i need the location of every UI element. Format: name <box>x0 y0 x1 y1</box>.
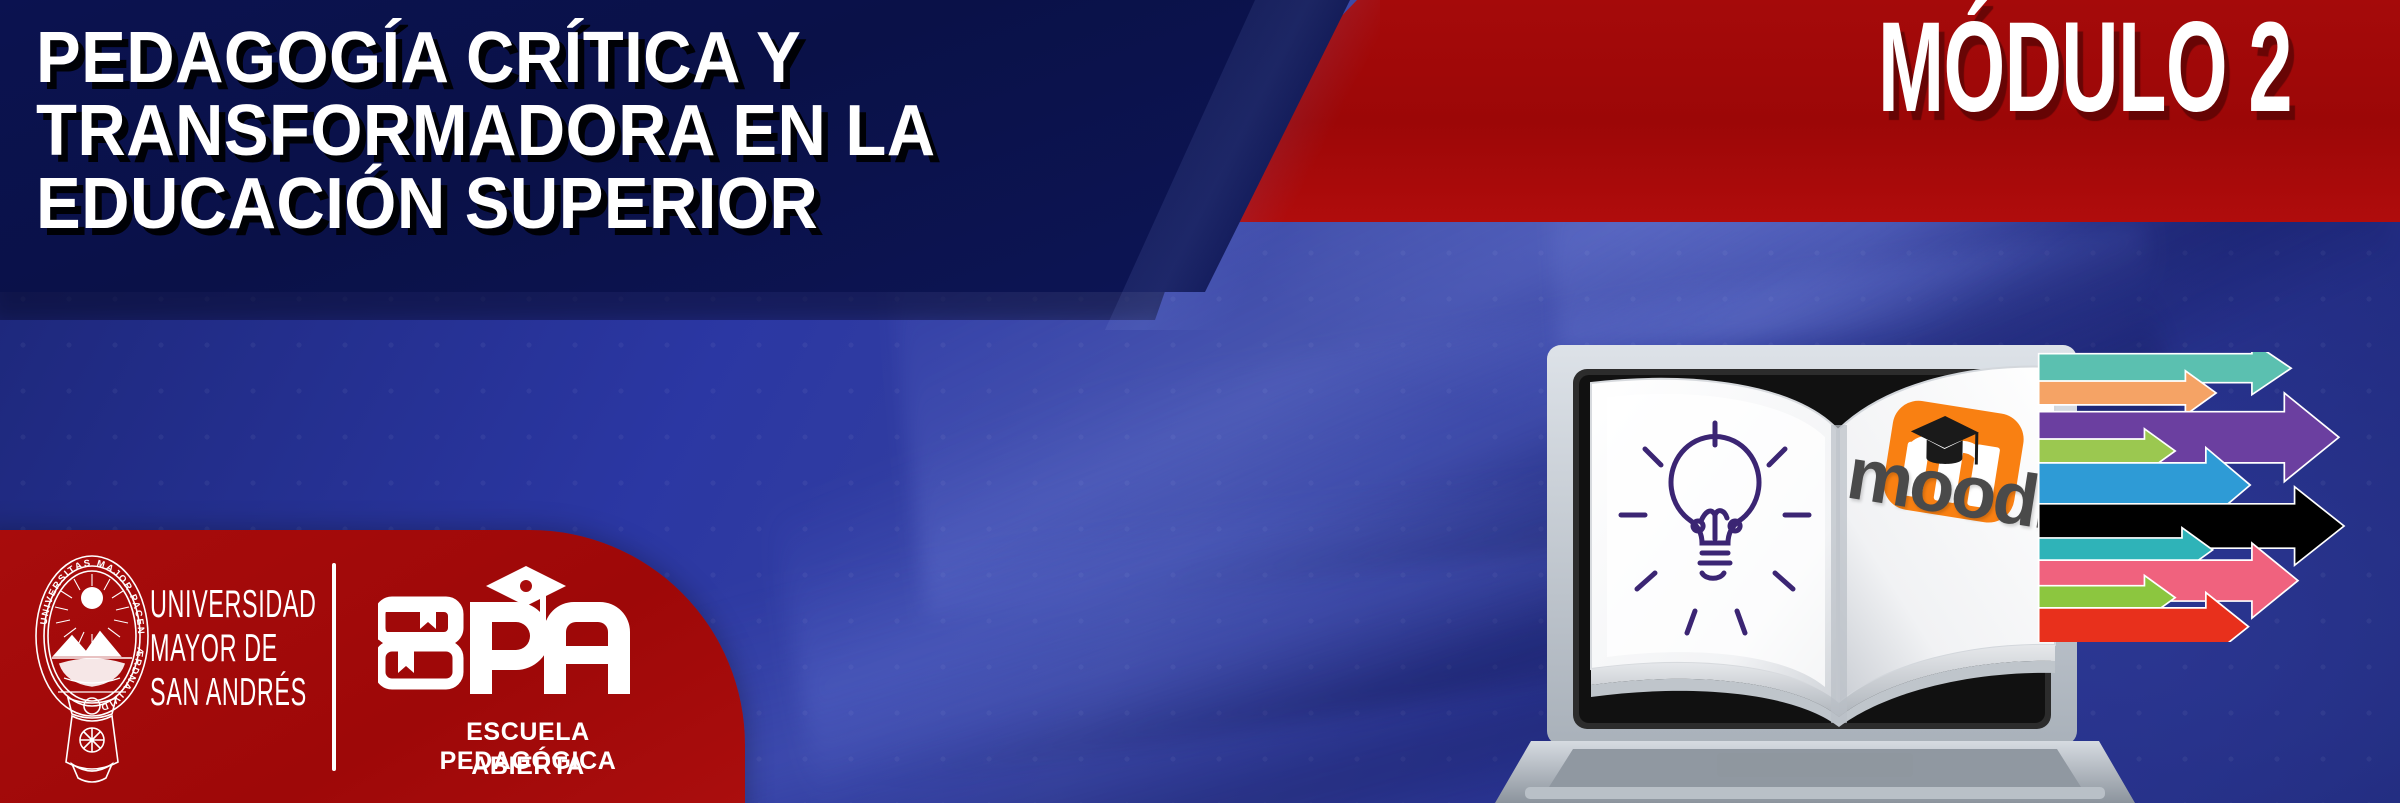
module-label: MÓDULO 2 <box>1878 4 2292 132</box>
epa-logo-icon <box>378 560 678 720</box>
logo-divider <box>332 563 336 771</box>
progress-arrows-graphic <box>2010 352 2400 642</box>
umsa-seal-icon: UNIVERSITAS MAJOR PACENSIS ÆRDNA IVID <box>28 552 156 784</box>
course-banner: PEDAGOGÍA CRÍTICA Y TRANSFORMADORA EN LA… <box>0 0 2400 803</box>
page-title: PEDAGOGÍA CRÍTICA Y TRANSFORMADORA EN LA… <box>36 22 1040 241</box>
university-name: UNIVERSIDAD MAYOR DE SAN ANDRÉS <box>150 583 317 715</box>
epa-name-line2: ABIERTA <box>378 752 678 781</box>
